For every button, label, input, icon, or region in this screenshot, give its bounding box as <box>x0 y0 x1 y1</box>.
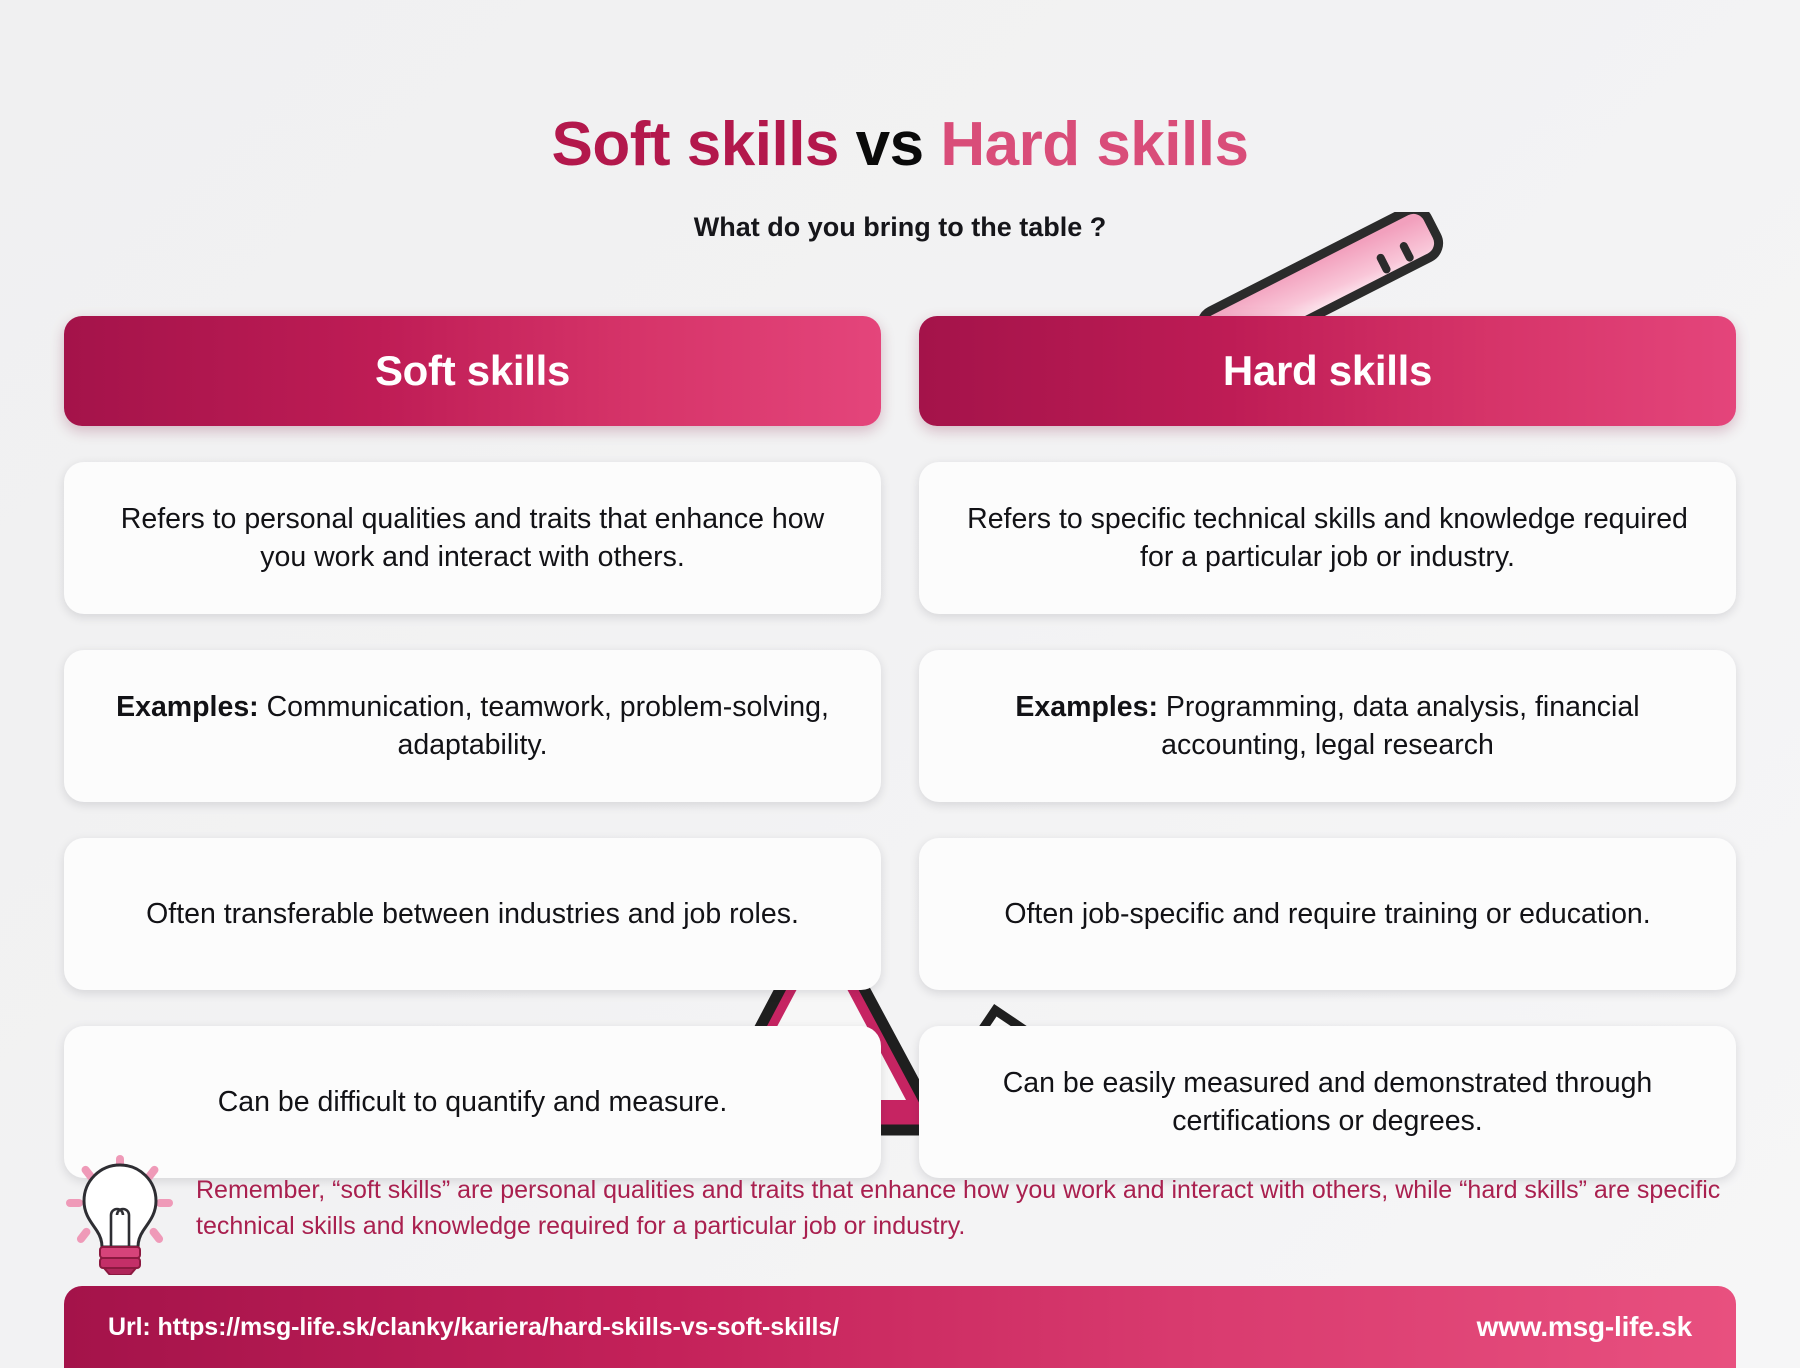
page-subtitle: What do you bring to the table ? <box>0 212 1800 243</box>
card-text: Refers to specific technical skills and … <box>951 500 1704 576</box>
comparison-columns: Soft skills Refers to personal qualities… <box>64 316 1736 1178</box>
column-hard-skills: Hard skills Refers to specific technical… <box>919 316 1736 1178</box>
footer-url[interactable]: Url: https://msg-life.sk/clanky/kariera/… <box>108 1313 839 1342</box>
remember-text: Remember, “soft skills” are personal qua… <box>196 1155 1736 1244</box>
title-hard-skills: Hard skills <box>940 110 1248 179</box>
card-hard-jobspecific: Often job-specific and require training … <box>919 838 1736 990</box>
card-text: Refers to personal qualities and traits … <box>96 500 849 576</box>
remember-note: Remember, “soft skills” are personal qua… <box>64 1155 1744 1275</box>
page-title: Soft skills vs Hard skills <box>0 112 1800 177</box>
card-text: Can be easily measured and demonstrated … <box>951 1064 1704 1140</box>
lightbulb-icon <box>64 1155 174 1275</box>
card-hard-definition: Refers to specific technical skills and … <box>919 462 1736 614</box>
infographic-page: Soft skills vs Hard skills What do you b… <box>0 0 1800 1368</box>
column-soft-skills: Soft skills Refers to personal qualities… <box>64 316 881 1178</box>
card-lead: Examples: <box>116 691 259 723</box>
card-text: Programming, data analysis, financial ac… <box>1158 691 1640 761</box>
card-text: Can be difficult to quantify and measure… <box>218 1083 728 1121</box>
card-hard-examples: Examples: Programming, data analysis, fi… <box>919 650 1736 802</box>
card-soft-transferable: Often transferable between industries an… <box>64 838 881 990</box>
card-soft-examples: Examples: Communication, teamwork, probl… <box>64 650 881 802</box>
column-header-hard-skills: Hard skills <box>919 316 1736 426</box>
title-vs: vs <box>856 110 924 179</box>
card-text: Often job-specific and require training … <box>1004 895 1650 933</box>
title-soft-skills: Soft skills <box>552 110 839 179</box>
card-text: Often transferable between industries an… <box>146 895 799 933</box>
footer-bar: Url: https://msg-life.sk/clanky/kariera/… <box>64 1286 1736 1368</box>
footer-brand[interactable]: www.msg-life.sk <box>1477 1311 1692 1343</box>
card-lead: Examples: <box>1015 691 1158 723</box>
column-header-soft-skills: Soft skills <box>64 316 881 426</box>
card-text: Communication, teamwork, problem-solving… <box>259 691 829 761</box>
card-soft-definition: Refers to personal qualities and traits … <box>64 462 881 614</box>
